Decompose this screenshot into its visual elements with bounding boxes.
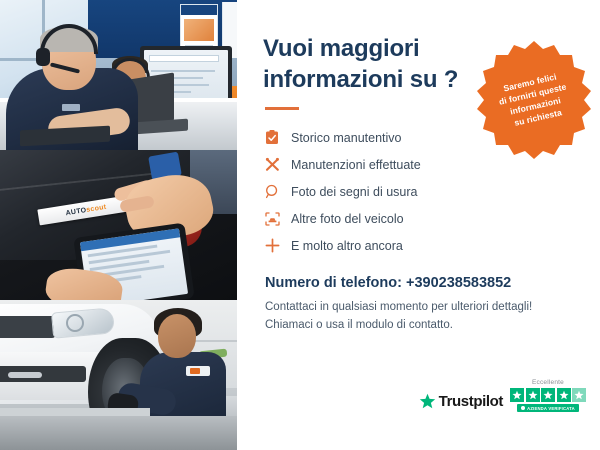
phone-number[interactable]: +390238583852 — [406, 275, 511, 291]
feature-label: Storico manutentivo — [291, 131, 401, 145]
feature-label: Manutenzioni effettuate — [291, 158, 421, 172]
trustpilot-score-block: Eccellente AZIENDA VERIFICATA — [510, 379, 586, 412]
callout-burst-badge: Saremo felici di fornirti queste informa… — [472, 38, 596, 162]
sticker-text-secondary: scout — [86, 203, 107, 213]
title-divider — [265, 107, 299, 110]
phone-label: Numero di telefono: — [265, 275, 402, 291]
star-tile — [526, 388, 540, 402]
wall-poster — [180, 4, 218, 52]
trustpilot-rating[interactable]: Trustpilot Eccellente AZIENDA VERIFICATA — [419, 379, 586, 412]
photo-call-center-agents-headsets — [0, 0, 237, 150]
headlight-ring — [66, 314, 84, 332]
feature-label: Foto dei segni di usura — [291, 185, 417, 199]
headline-line-2: informazioni su ? — [263, 66, 458, 93]
contact-subtext: Contattaci in qualsiasi momento per ulte… — [265, 299, 578, 335]
plus-icon — [265, 238, 291, 253]
star-tile — [557, 388, 571, 402]
magnifier-icon — [265, 184, 291, 199]
star-tile — [541, 388, 555, 402]
headset-icon — [460, 49, 483, 70]
trustpilot-star-icon — [419, 393, 436, 410]
lift-platform-top — [0, 408, 150, 416]
star-tile-partial — [572, 388, 586, 402]
contact-subtext-line-2: Chiamaci o usa il modulo di contatto. — [265, 319, 453, 331]
car-scan-icon — [265, 212, 291, 226]
tools-cross-icon — [265, 157, 291, 172]
trustpilot-stars — [510, 388, 586, 402]
clipboard-check-icon — [265, 130, 291, 145]
photo-sticker-on-car-with-tablet: AUTOscout — [0, 150, 237, 300]
verified-business-badge: AZIENDA VERIFICATA — [517, 404, 579, 412]
page-title: Vuoi maggiori informazioni su ? — [263, 34, 468, 95]
feature-item-foto-segni-usura: Foto dei segni di usura — [265, 178, 578, 205]
agent1-headset-cup — [36, 48, 50, 66]
fog-light — [8, 372, 42, 378]
uniform-logo-mark — [190, 368, 200, 374]
vehicle-lift — [0, 416, 237, 450]
content-panel: Vuoi maggiori informazioni su ? Saremo f… — [237, 0, 600, 450]
phone-line: Numero di telefono: +390238583852 — [265, 275, 578, 291]
sticker-text-primary: AUTO — [65, 206, 87, 216]
agent1-badge — [62, 104, 80, 111]
photo-mechanic-wheel-on-lift — [0, 300, 237, 450]
promo-card: AUTOscout — [0, 0, 600, 450]
feature-label: E molto altro ancora — [291, 239, 403, 253]
trustpilot-rating-label: Eccellente — [532, 379, 564, 386]
headline-line-1: Vuoi maggiori — [263, 35, 420, 62]
trustpilot-logo: Trustpilot — [419, 393, 503, 412]
contact-subtext-line-1: Contattaci in qualsiasi momento per ulte… — [265, 301, 532, 313]
feature-item-altre-foto-veicolo: Altre foto del veicolo — [265, 205, 578, 232]
mechanic-head — [158, 314, 196, 358]
verified-label: AZIENDA VERIFICATA — [527, 406, 575, 411]
star-tile — [510, 388, 524, 402]
feature-label: Altre foto del veicolo — [291, 212, 404, 226]
upper-grille — [0, 316, 56, 338]
trustpilot-wordmark: Trustpilot — [439, 393, 503, 410]
verified-check-icon — [521, 406, 525, 410]
photo-column: AUTOscout — [0, 0, 237, 450]
feature-item-molto-altro-ancora: E molto altro ancora — [265, 232, 578, 259]
